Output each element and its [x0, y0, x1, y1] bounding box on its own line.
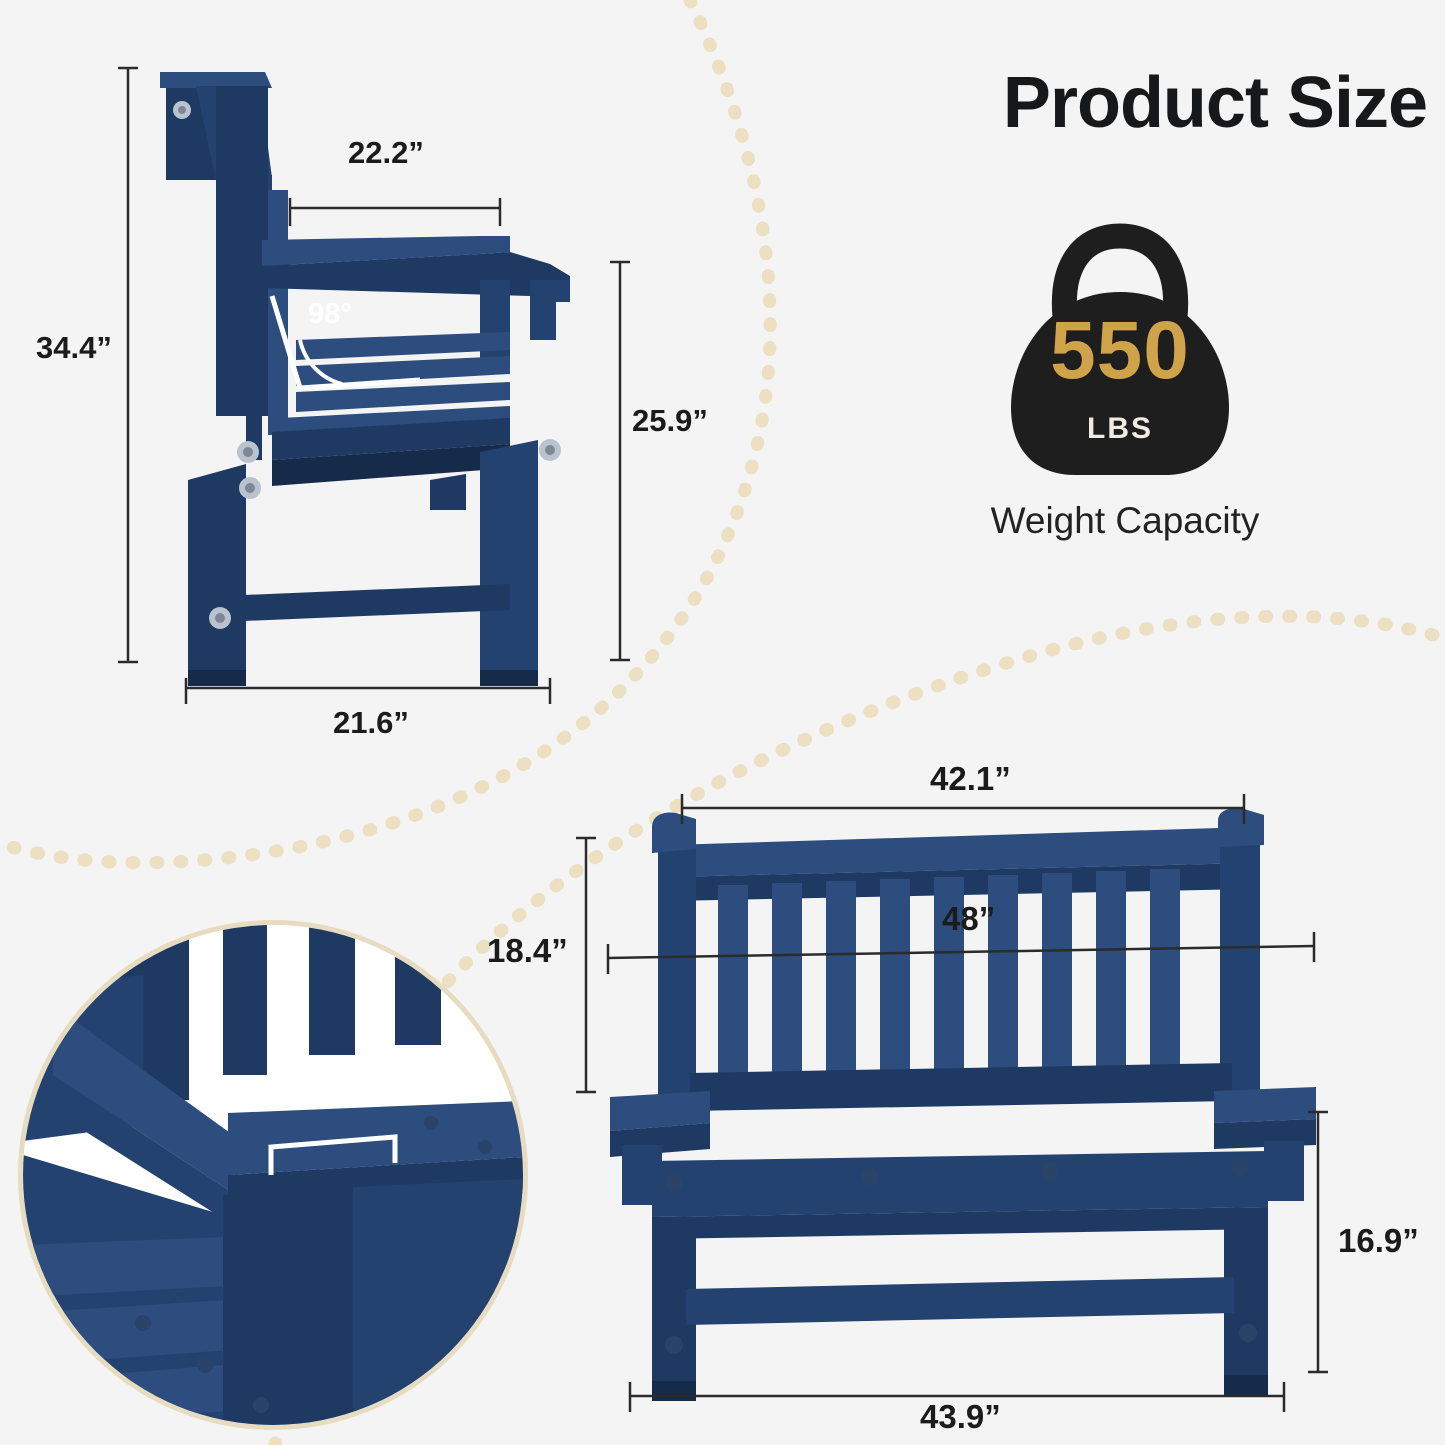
- armrest-detail-inset: 2.6”: [18, 920, 528, 1430]
- dimension-back-height: 25.9”: [632, 403, 708, 439]
- armrest-detail-illustration: [23, 925, 523, 1425]
- weight-capacity-badge: 550 LBS: [1005, 222, 1235, 487]
- page-title: Product Size: [1003, 62, 1427, 144]
- weight-unit: LBS: [1005, 412, 1235, 446]
- dimension-armrest-width: 2.6”: [281, 1083, 338, 1117]
- dimension-back-angle: 98°: [308, 298, 352, 331]
- front-view-dimensions: [560, 760, 1420, 1420]
- dimension-total-width: 43.9”: [920, 1398, 1001, 1436]
- dimension-total-height: 34.4”: [36, 330, 112, 366]
- product-size-infographic: Product Size 550 LBS Weight Capacity: [0, 0, 1445, 1445]
- weight-capacity-caption: Weight Capacity: [900, 500, 1350, 542]
- dimension-seat-height: 16.9”: [1338, 1222, 1419, 1260]
- dimension-backrest-height: 18.4”: [487, 932, 568, 970]
- dimension-base-depth: 21.6”: [333, 705, 409, 741]
- weight-value: 550: [1005, 310, 1235, 392]
- dimension-backrest-width: 42.1”: [930, 760, 1011, 798]
- dimension-seat-depth: 22.2”: [348, 135, 424, 171]
- dimension-seat-width: 48”: [942, 900, 995, 938]
